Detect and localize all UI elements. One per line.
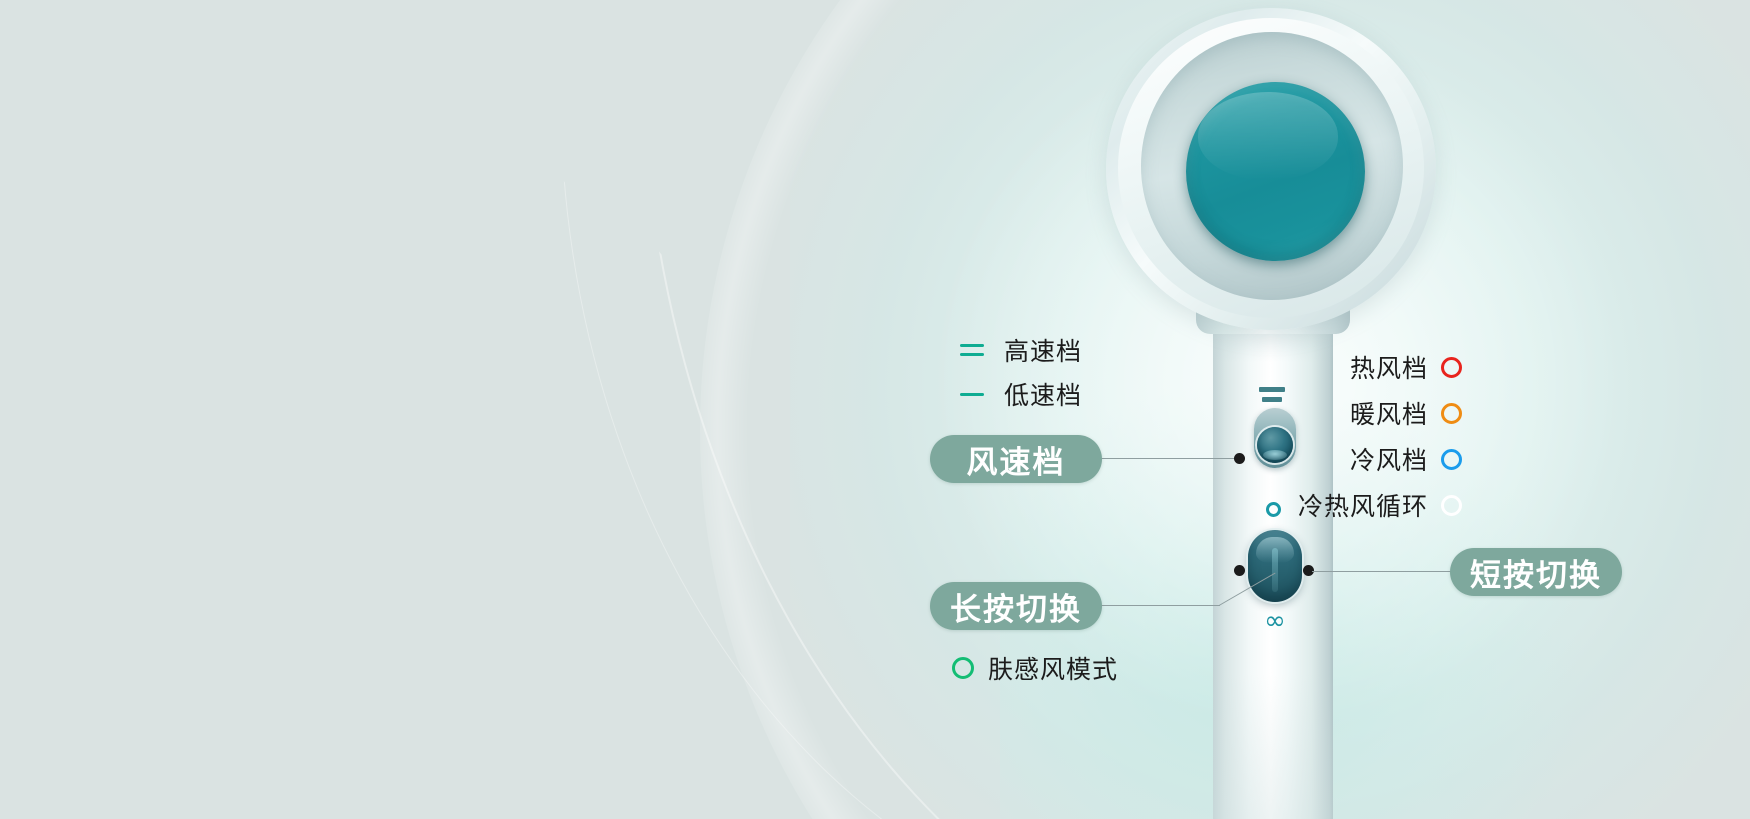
- background-arc-1: [140, 0, 1750, 819]
- callout-wind-speed-label: 风速档: [967, 437, 1066, 482]
- high-speed-mark-icon: [960, 344, 990, 356]
- heat-legend-label: 暖风档: [1350, 395, 1428, 431]
- heat-legend-item-hot: 热风档: [1298, 344, 1462, 390]
- leader-line-short-press: [1312, 571, 1452, 572]
- speed-legend-label: 低速档: [1004, 376, 1082, 412]
- callout-long-press[interactable]: 长按切换: [930, 582, 1102, 630]
- product-feature-diagram: ∞ 高速档 低速档 热风档 暖风档 冷风档: [0, 0, 1750, 819]
- circle-icon: [1266, 502, 1281, 517]
- skin-mode-circle-icon: [952, 657, 974, 679]
- leader-line-wind-speed: [1100, 458, 1240, 459]
- heat-legend-item-warm: 暖风档: [1298, 390, 1462, 436]
- speed-line-lower: [1262, 397, 1282, 402]
- infinity-icon: ∞: [1258, 608, 1292, 634]
- heat-legend-label: 冷风档: [1350, 441, 1428, 477]
- speed-lines-icon: [1259, 387, 1285, 407]
- skin-mode-label: 肤感风模式: [988, 650, 1118, 686]
- leader-dot-long-press: [1234, 565, 1245, 576]
- wind-speed-button-gloss: [1263, 450, 1287, 460]
- speed-legend-label: 高速档: [1004, 332, 1082, 368]
- speed-legend-item-high: 高速档: [960, 328, 1082, 372]
- background-mint-glow: [1000, 250, 1750, 819]
- callout-wind-speed[interactable]: 风速档: [930, 435, 1102, 483]
- speed-line-upper: [1259, 387, 1285, 392]
- skin-mode-legend: 肤感风模式: [952, 650, 1118, 686]
- heat-legend-item-cycle: 冷热风循环: [1298, 482, 1462, 528]
- speed-legend: 高速档 低速档: [960, 328, 1082, 416]
- hot-mode-circle-icon: [1441, 357, 1462, 378]
- speed-legend-item-low: 低速档: [960, 372, 1082, 416]
- callout-long-press-label: 长按切换: [950, 584, 1082, 629]
- heat-legend: 热风档 暖风档 冷风档 冷热风循环: [1298, 344, 1462, 528]
- callout-short-press[interactable]: 短按切换: [1450, 548, 1622, 596]
- cycle-mode-circle-icon: [1441, 495, 1462, 516]
- heat-legend-item-cool: 冷风档: [1298, 436, 1462, 482]
- heat-legend-label: 冷热风循环: [1298, 487, 1428, 523]
- heat-legend-label: 热风档: [1350, 349, 1428, 385]
- leader-line-long-press-horizontal: [1100, 605, 1220, 606]
- cool-mode-circle-icon: [1441, 449, 1462, 470]
- warm-mode-circle-icon: [1441, 403, 1462, 424]
- mode-switch-button-stem: [1272, 548, 1278, 592]
- callout-short-press-label: 短按切换: [1470, 550, 1602, 595]
- background-layer: [0, 0, 1750, 819]
- leader-dot-wind-speed: [1234, 453, 1245, 464]
- low-speed-mark-icon: [960, 393, 990, 396]
- dryer-nozzle-gloss: [1198, 92, 1338, 180]
